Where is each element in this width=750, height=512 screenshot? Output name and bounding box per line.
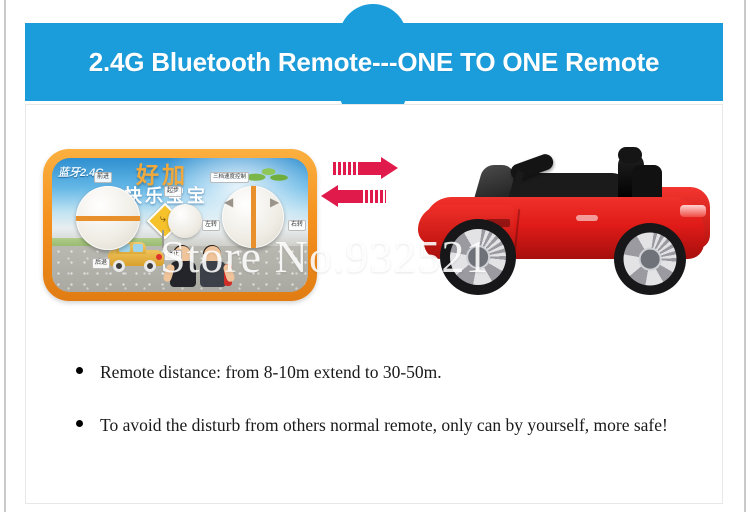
product-detail-page: 2.4G Bluetooth Remote---ONE TO ONE Remot… xyxy=(0,0,750,512)
bullet-dot-icon xyxy=(76,367,83,374)
remote-face: 蓝牙2.4G 好加 快乐宝宝 ⤷ xyxy=(52,158,308,292)
arrow-stripe-tail xyxy=(333,162,359,175)
remote-control-image: 蓝牙2.4G 好加 快乐宝宝 ⤷ xyxy=(43,149,317,301)
remote-label-turn-left: 左转 xyxy=(202,220,220,231)
arrow-stripe-tail xyxy=(360,190,386,203)
child-body xyxy=(200,261,226,287)
car-wheel-front xyxy=(440,219,516,295)
remote-label-forward: 前进 xyxy=(94,172,112,183)
pairing-arrows xyxy=(321,153,416,225)
mini-car-taillight xyxy=(156,254,162,260)
remote-label-start: 起步 xyxy=(164,186,182,197)
remote-button-band xyxy=(76,216,140,221)
arrow-head-right-icon xyxy=(381,157,398,179)
remote-label-speed-control: 三档速度控制 xyxy=(210,172,249,183)
child-photo-right xyxy=(200,246,228,290)
chevron-right-icon: ▶ xyxy=(270,195,279,209)
banner-title: 2.4G Bluetooth Remote---ONE TO ONE Remot… xyxy=(89,47,660,78)
car-taillight xyxy=(680,205,706,217)
bullet-dot-icon xyxy=(76,420,83,427)
mini-car-window-rear xyxy=(133,244,143,252)
list-item: To avoid the disturb from others normal … xyxy=(74,413,694,438)
mini-car-wheel-front xyxy=(113,260,125,272)
car-wheel-rear xyxy=(614,223,686,295)
car-door-handle xyxy=(576,215,598,221)
remote-label-reverse: 后退 xyxy=(92,258,110,269)
car-wheel-hub xyxy=(466,245,490,269)
car-seat-back xyxy=(632,165,662,201)
arrow-right xyxy=(333,157,398,179)
remote-button-band xyxy=(251,186,256,248)
car-headrest xyxy=(618,147,642,163)
arrow-left xyxy=(321,185,386,207)
remote-label-stop: 停止 xyxy=(164,250,182,261)
content-card: 蓝牙2.4G 好加 快乐宝宝 ⤷ xyxy=(25,104,723,504)
list-item: Remote distance: from 8-10m extend to 30… xyxy=(74,360,694,385)
arrow-shaft xyxy=(359,162,381,175)
feature-list: Remote distance: from 8-10m extend to 30… xyxy=(74,360,694,438)
ride-on-car-image xyxy=(418,143,713,311)
banner-bar: 2.4G Bluetooth Remote---ONE TO ONE Remot… xyxy=(25,23,723,101)
remote-label-turn-right: 右转 xyxy=(288,220,306,231)
list-item-text: Remote distance: from 8-10m extend to 30… xyxy=(100,362,442,382)
chevron-left-icon: ◀ xyxy=(224,195,233,209)
remote-button-forward-reverse[interactable] xyxy=(76,186,140,250)
arrow-shaft xyxy=(338,190,360,203)
list-item-text: To avoid the disturb from others normal … xyxy=(100,415,668,435)
mini-car-wheel-rear xyxy=(144,260,156,272)
car-wheel-hub xyxy=(639,248,662,271)
arrow-head-left-icon xyxy=(321,185,338,207)
remote-button-start-stop[interactable] xyxy=(168,204,202,238)
